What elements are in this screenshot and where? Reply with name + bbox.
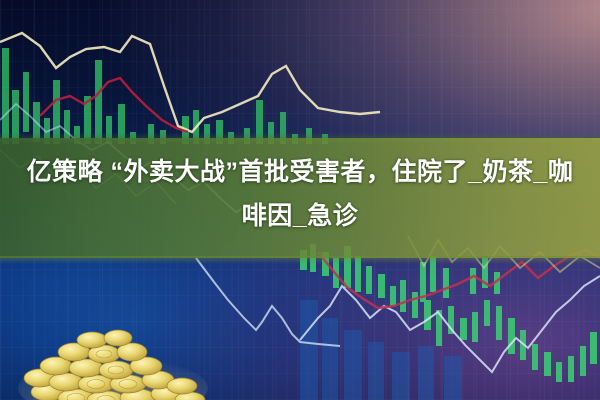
headline-text: 亿策略 “外卖大战”首批受害者，住院了_奶茶_咖啡因_急诊 [0,150,600,238]
article-thumbnail: 亿策略 “外卖大战”首批受害者，住院了_奶茶_咖啡因_急诊 [0,0,600,400]
gold-coin-pile [18,314,208,400]
band-bottom-feather [0,256,600,264]
